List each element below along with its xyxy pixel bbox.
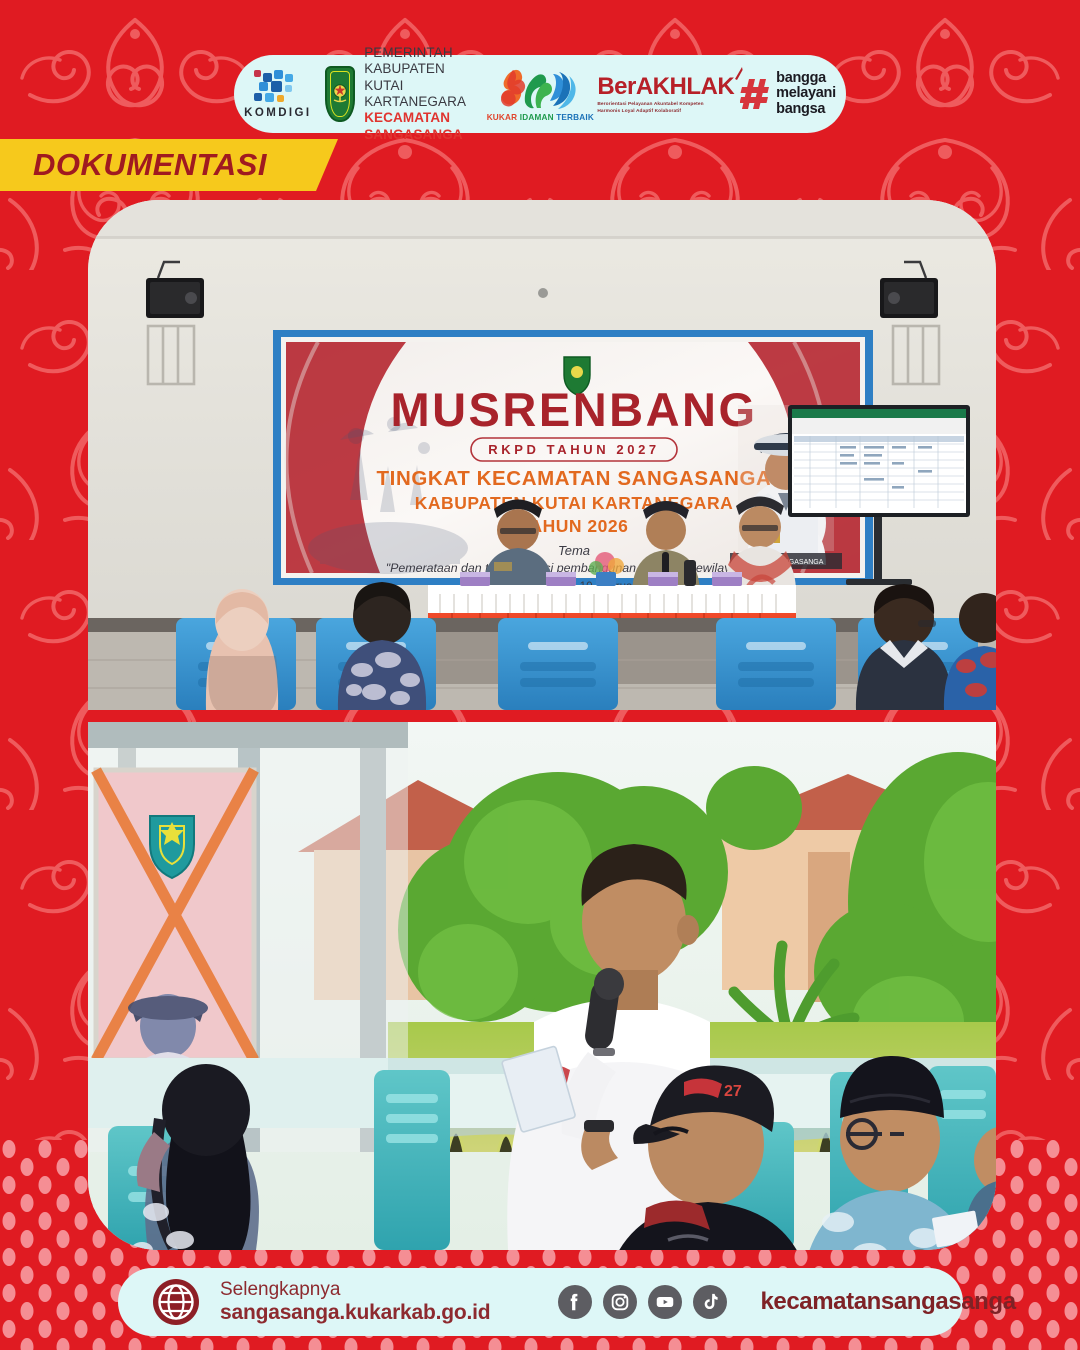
komdigi-dots-icon [252, 70, 304, 104]
hashtag-icon [740, 77, 770, 111]
social-handle: kecamatansangasanga [760, 1288, 1015, 1316]
gov-line-3: KECAMATAN SANGASANGA [364, 110, 483, 143]
berakhlak-slogan: bangga melayani bangsa [776, 71, 836, 118]
berakhlak-tick-icon [734, 66, 743, 80]
kukar-tagline: KUKAR IDAMAN TERBAIK [487, 113, 594, 122]
berakhlak-sub-2: Harmonis Loyal Adaptif Kolaboratif [597, 108, 681, 115]
komdigi-logo: KOMDIGI [244, 70, 311, 119]
facebook-icon[interactable] [558, 1285, 592, 1319]
kukar-tag-3: TERBAIK [556, 113, 594, 122]
youtube-icon[interactable] [648, 1285, 682, 1319]
kukar-187-icon [501, 66, 579, 112]
dokumentasi-ribbon: DOKUMENTASI [0, 139, 338, 191]
svg-text:RKPD TAHUN 2027: RKPD TAHUN 2027 [488, 442, 660, 457]
gov-line-2: KUTAI KARTANEGARA [364, 78, 483, 111]
berakhlak-sub-1: Berorientasi Pelayanan Akuntabel Kompete… [597, 101, 703, 108]
ribbon-label: DOKUMENTASI [0, 147, 267, 183]
photo-outdoor-forum: 27 [88, 722, 996, 1250]
instagram-icon[interactable] [603, 1285, 637, 1319]
kutai-kartanegara-crest-icon [325, 66, 355, 122]
svg-text:Tema: Tema [558, 543, 590, 558]
photo-musrenbang-hall: MUSRENBANG RKPD TAHUN 2027 TINGKAT KECAM… [88, 200, 996, 710]
svg-text:TINGKAT KECAMATAN SANGASANGA: TINGKAT KECAMATAN SANGASANGA [377, 467, 772, 490]
globe-icon [152, 1278, 200, 1326]
slogan-line-1: bangga [776, 71, 836, 87]
gov-line-1: PEMERINTAH KABUPATEN [364, 45, 483, 78]
svg-text:MUSRENBANG: MUSRENBANG [390, 383, 757, 436]
header-logo-bar: KOMDIGI PEMERINTAH KABUPATEN KUTAI KARTA… [234, 55, 846, 133]
kukar-tag-1: KUKAR [487, 113, 518, 122]
svg-text:27: 27 [724, 1083, 742, 1100]
komdigi-wordmark: KOMDIGI [244, 107, 311, 119]
kukar-tag-2: IDAMAN [520, 113, 554, 122]
berakhlak-logo: BerAKHLAK Berorientasi Pelayanan Akuntab… [597, 71, 836, 118]
footer-contact-bar: Selengkapnya sangasanga.kukarkab.go.id k… [118, 1268, 963, 1336]
footer-more-label: Selengkapnya [220, 1279, 490, 1301]
musrenbang-backdrop-banner: MUSRENBANG RKPD TAHUN 2027 TINGKAT KECAM… [273, 330, 873, 593]
berakhlak-wordmark: BerAKHLAK [597, 73, 734, 101]
slogan-line-3: bangsa [776, 102, 836, 118]
tiktok-icon[interactable] [693, 1285, 727, 1319]
footer-website[interactable]: sangasanga.kukarkab.go.id [220, 1301, 490, 1325]
slogan-line-2: melayani [776, 86, 836, 102]
government-logo: PEMERINTAH KABUPATEN KUTAI KARTANEGARA K… [325, 45, 483, 144]
social-icon-group [558, 1285, 727, 1319]
berakhlak-text: BerAKHLAK [597, 73, 734, 100]
kukar-idaman-logo: KUKAR IDAMAN TERBAIK [497, 66, 583, 122]
